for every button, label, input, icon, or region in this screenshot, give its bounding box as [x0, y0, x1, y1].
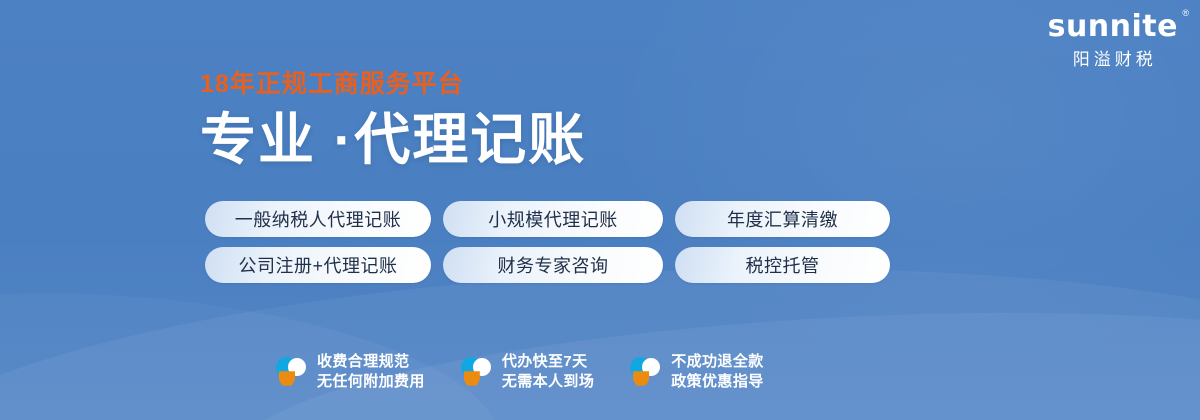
logo-wordmark: sunnite [1048, 12, 1178, 42]
service-pill-expert-consulting[interactable]: 财务专家咨询 [443, 247, 663, 283]
feature-line-2: 无需本人到场 [502, 372, 594, 392]
feature-text-pricing: 收费合理规范 无任何附加费用 [317, 352, 425, 393]
badge-orange-drop [633, 371, 649, 387]
promo-banner: sunnite ® 阳溢财税 18年正规工商服务平台 专业 ·代理记账 一般纳税… [0, 0, 1200, 420]
feature-item-guarantee: 不成功退全款 政策优惠指导 [630, 352, 763, 393]
service-pill-tax-control-hosting[interactable]: 税控托管 [675, 247, 890, 283]
badge-circle-icon [630, 356, 660, 388]
service-pill-annual-settlement[interactable]: 年度汇算清缴 [675, 201, 890, 237]
badge-circle-icon [276, 356, 306, 388]
eyebrow-text: 18年正规工商服务平台 [200, 72, 586, 97]
badge-orange-drop [464, 371, 480, 387]
feature-line-1: 收费合理规范 [317, 352, 425, 372]
feature-line-2: 无任何附加费用 [317, 372, 425, 392]
badge-orange-drop [279, 371, 295, 387]
feature-line-2: 政策优惠指导 [671, 372, 763, 392]
page-title: 专业 ·代理记账 [200, 111, 586, 170]
feature-item-speed: 代办快至7天 无需本人到场 [461, 352, 594, 393]
service-pill-small-scale[interactable]: 小规模代理记账 [443, 201, 663, 237]
service-pill-general-taxpayer[interactable]: 一般纳税人代理记账 [205, 201, 431, 237]
feature-text-speed: 代办快至7天 无需本人到场 [502, 352, 594, 393]
service-pill-row-2: 公司注册+代理记账 财务专家咨询 税控托管 [205, 247, 890, 283]
registered-trademark-icon: ® [1182, 9, 1189, 18]
feature-line-1: 代办快至7天 [502, 352, 594, 372]
service-pill-grid: 一般纳税人代理记账 小规模代理记账 年度汇算清缴 公司注册+代理记账 财务专家咨… [205, 201, 890, 293]
feature-strip: 收费合理规范 无任何附加费用 代办快至7天 无需本人到场 不成功退全款 [276, 352, 764, 393]
feature-item-pricing: 收费合理规范 无任何附加费用 [276, 352, 425, 393]
logo-chinese-name: 阳溢财税 [1048, 51, 1178, 68]
headline-block: 18年正规工商服务平台 专业 ·代理记账 [200, 72, 586, 170]
brand-logo: sunnite ® 阳溢财税 [1048, 12, 1178, 68]
service-pill-company-registration[interactable]: 公司注册+代理记账 [205, 247, 431, 283]
badge-circle-icon [461, 356, 491, 388]
service-pill-row-1: 一般纳税人代理记账 小规模代理记账 年度汇算清缴 [205, 201, 890, 237]
feature-text-guarantee: 不成功退全款 政策优惠指导 [671, 352, 763, 393]
feature-line-1: 不成功退全款 [671, 352, 763, 372]
